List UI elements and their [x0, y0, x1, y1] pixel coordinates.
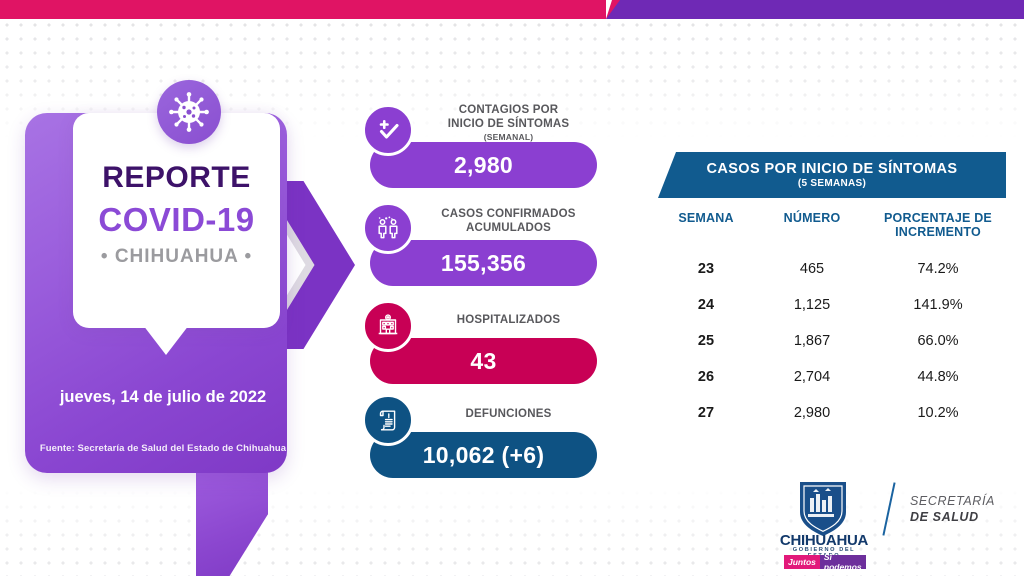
table-row: 24 1,125 141.9%	[658, 287, 1006, 323]
cell-numero: 2,704	[754, 369, 870, 385]
chihuahua-shield-icon	[796, 478, 850, 538]
cell-porcentaje: 44.8%	[870, 369, 1006, 385]
coronavirus-icon	[157, 80, 221, 144]
report-panel-body: REPORTE COVID-19 • CHIHUAHUA • jueves, 1…	[25, 113, 287, 473]
cell-porcentaje: 74.2%	[870, 261, 1006, 277]
report-state-label: • CHIHUAHUA •	[73, 246, 280, 268]
table-row: 26 2,704 44.8%	[658, 359, 1006, 395]
stat-card-label: CONTAGIOS POR INICIO DE SÍNTOMAS (SEMANA…	[420, 104, 597, 145]
stat-card-label-line2: INICIO DE SÍNTOMAS	[448, 118, 570, 130]
cell-semana: 23	[658, 261, 754, 277]
cases-table: CASOS POR INICIO DE SÍNTOMAS (5 SEMANAS)…	[658, 152, 1006, 431]
secretaria-line1: SECRETARÍA	[910, 494, 995, 508]
stat-card-label-line1: DEFUNCIONES	[466, 408, 552, 420]
stat-card-hospitalizados: HOSPITALIZADOS 43	[362, 300, 597, 384]
logo-divider	[882, 482, 895, 535]
column-header-porcentaje-line2: INCREMENTO	[895, 225, 981, 239]
stat-card-label: CASOS CONFIRMADOS ACUMULADOS	[420, 208, 597, 235]
cell-numero: 465	[754, 261, 870, 277]
cell-porcentaje: 141.9%	[870, 297, 1006, 313]
cell-semana: 25	[658, 333, 754, 349]
cell-numero: 1,867	[754, 333, 870, 349]
column-header-porcentaje: PORCENTAJE DE INCREMENTO	[870, 211, 1006, 239]
column-header-numero: NÚMERO	[754, 211, 870, 239]
cell-semana: 24	[658, 297, 754, 313]
stat-card-label-line2: ACUMULADOS	[466, 222, 551, 234]
stat-cards: CONTAGIOS POR INICIO DE SÍNTOMAS (SEMANA…	[362, 104, 602, 474]
cases-table-body: 23 465 74.2% 24 1,125 141.9% 25 1,867 66…	[658, 251, 1006, 431]
page-title: REPORTE	[73, 161, 280, 195]
logo-tagline: Juntos Sí podemos	[784, 555, 866, 569]
stat-card-defunciones: DEFUNCIONES 10,062 (+6)	[362, 394, 597, 478]
cases-table-subtitle: (5 SEMANAS)	[798, 178, 866, 189]
cell-porcentaje: 10.2%	[870, 405, 1006, 421]
report-date: jueves, 14 de julio de 2022	[32, 388, 294, 407]
people-icon	[362, 202, 414, 254]
topbar-pink	[0, 0, 620, 19]
column-header-porcentaje-line1: PORCENTAJE DE	[884, 211, 992, 225]
report-title-bubble-tail	[143, 325, 189, 355]
stat-card-label-line1: CONTAGIOS POR	[459, 104, 559, 116]
stat-card-label: HOSPITALIZADOS	[420, 314, 597, 328]
table-row: 23 465 74.2%	[658, 251, 1006, 287]
plus-check-icon	[362, 104, 414, 156]
table-row: 27 2,980 10.2%	[658, 395, 1006, 431]
infographic-canvas: REPORTE COVID-19 • CHIHUAHUA • jueves, 1…	[0, 0, 1024, 576]
cell-porcentaje: 66.0%	[870, 333, 1006, 349]
stat-card-contagios: CONTAGIOS POR INICIO DE SÍNTOMAS (SEMANA…	[362, 104, 597, 188]
stat-card-casos-confirmados: CASOS CONFIRMADOS ACUMULADOS 155,356	[362, 202, 597, 286]
table-row: 25 1,867 66.0%	[658, 323, 1006, 359]
hospital-icon	[362, 300, 414, 352]
cases-table-banner: CASOS POR INICIO DE SÍNTOMAS (5 SEMANAS)	[658, 152, 1006, 198]
column-header-semana: SEMANA	[658, 211, 754, 239]
cell-semana: 27	[658, 405, 754, 421]
cases-table-header-row: SEMANA NÚMERO PORCENTAJE DE INCREMENTO	[658, 211, 1006, 239]
report-subtitle: COVID-19	[73, 201, 280, 239]
stat-card-label: DEFUNCIONES	[420, 408, 597, 422]
stat-card-label-line1: HOSPITALIZADOS	[457, 314, 561, 326]
document-icon	[362, 394, 414, 446]
cell-numero: 2,980	[754, 405, 870, 421]
report-panel: REPORTE COVID-19 • CHIHUAHUA • jueves, 1…	[18, 88, 348, 528]
footer-logos: CHIHUAHUA GOBIERNO DEL ESTADO Juntos Sí …	[778, 478, 1008, 562]
report-source: Fuente: Secretaría de Salud del Estado d…	[32, 443, 294, 454]
cell-numero: 1,125	[754, 297, 870, 313]
cases-table-title: CASOS POR INICIO DE SÍNTOMAS	[706, 161, 957, 177]
stat-card-label-line1: CASOS CONFIRMADOS	[441, 208, 575, 220]
secretaria-line2: DE SALUD	[910, 510, 979, 524]
logo-tagline-si-podemos: Sí podemos	[820, 555, 866, 569]
cell-semana: 26	[658, 369, 754, 385]
logo-tagline-juntos: Juntos	[784, 555, 820, 569]
